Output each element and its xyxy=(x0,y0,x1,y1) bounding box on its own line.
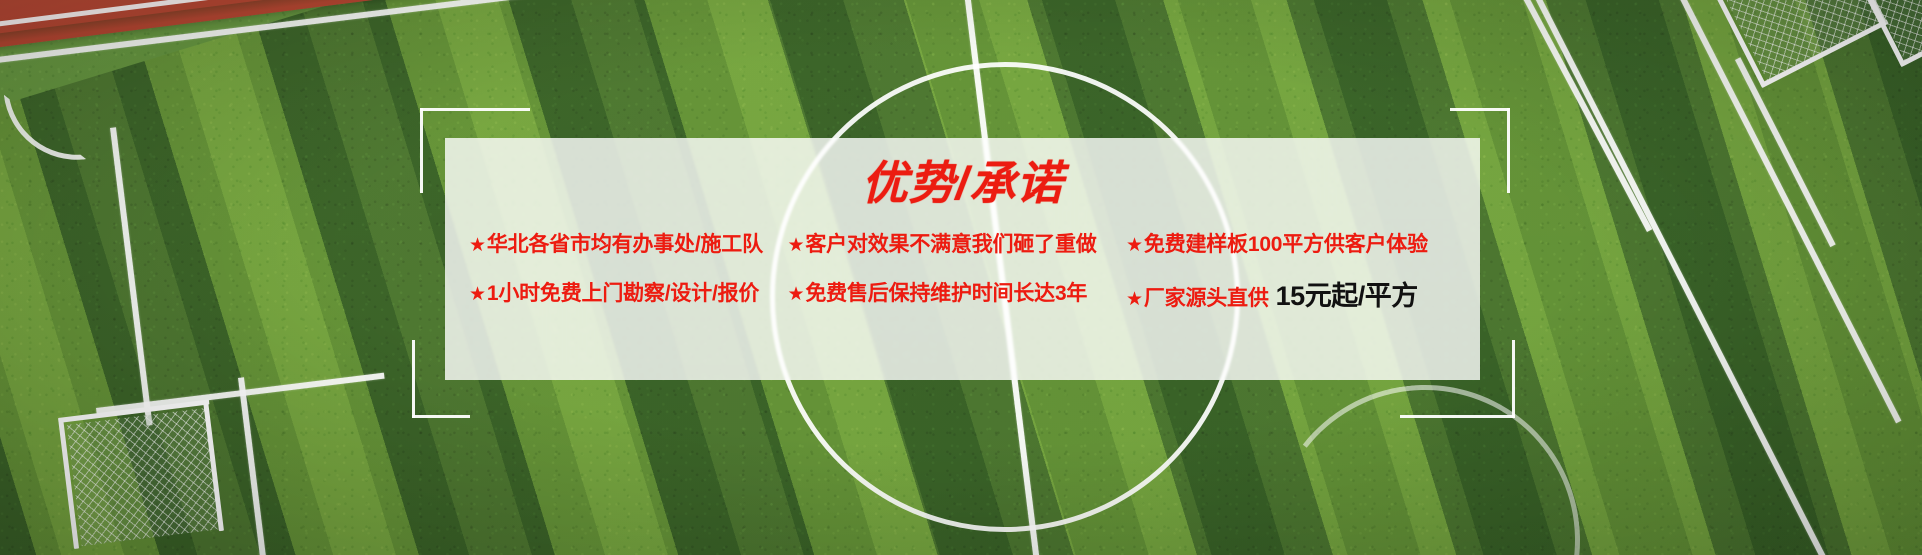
list-item-label: 华北各省市均有办事处/施工队 xyxy=(487,233,763,256)
list-item-label: 免费建样板100平方供客户体验 xyxy=(1144,233,1428,256)
list-item-label: 1小时免费上门勘察/设计/报价 xyxy=(487,282,759,305)
list-item: ★免费建样板100平方供客户体验 xyxy=(1126,234,1428,255)
list-item: ★华北各省市均有办事处/施工队 xyxy=(469,234,763,255)
star-icon: ★ xyxy=(469,284,486,305)
star-icon: ★ xyxy=(1126,235,1143,256)
list-item-price: ★厂家源头直供 15元起/平方 xyxy=(1126,283,1418,310)
list-item-label: 客户对效果不满意我们砸了重做 xyxy=(805,233,1096,256)
list-item: ★客户对效果不满意我们砸了重做 xyxy=(788,234,1097,255)
list-item: ★1小时免费上门勘察/设计/报价 xyxy=(469,283,759,304)
star-icon: ★ xyxy=(1126,290,1143,309)
star-icon: ★ xyxy=(788,284,805,305)
list-item: ★免费售后保持维护时间长达3年 xyxy=(788,283,1088,304)
benefits-column-2: ★客户对效果不满意我们砸了重做 ★免费售后保持维护时间长达3年 xyxy=(788,234,1108,310)
benefits-column-1: ★华北各省市均有办事处/施工队 ★1小时免费上门勘察/设计/报价 xyxy=(469,234,769,310)
list-item-label: 厂家源头直供 xyxy=(1144,288,1269,309)
price-value: 15元起/平方 xyxy=(1276,283,1418,310)
list-item-label: 免费售后保持维护时间长达3年 xyxy=(805,282,1087,305)
star-icon: ★ xyxy=(469,235,486,256)
benefits-columns: ★华北各省市均有办事处/施工队 ★1小时免费上门勘察/设计/报价 ★客户对效果不… xyxy=(445,234,1480,310)
content-panel: 优势/承诺 ★华北各省市均有办事处/施工队 ★1小时免费上门勘察/设计/报价 ★… xyxy=(445,138,1480,380)
benefits-column-3: ★免费建样板100平方供客户体验 ★厂家源头直供 15元起/平方 xyxy=(1126,234,1456,310)
promo-banner: 优势/承诺 ★华北各省市均有办事处/施工队 ★1小时免费上门勘察/设计/报价 ★… xyxy=(0,0,1922,555)
page-title: 优势/承诺 xyxy=(445,160,1480,206)
star-icon: ★ xyxy=(788,235,805,256)
